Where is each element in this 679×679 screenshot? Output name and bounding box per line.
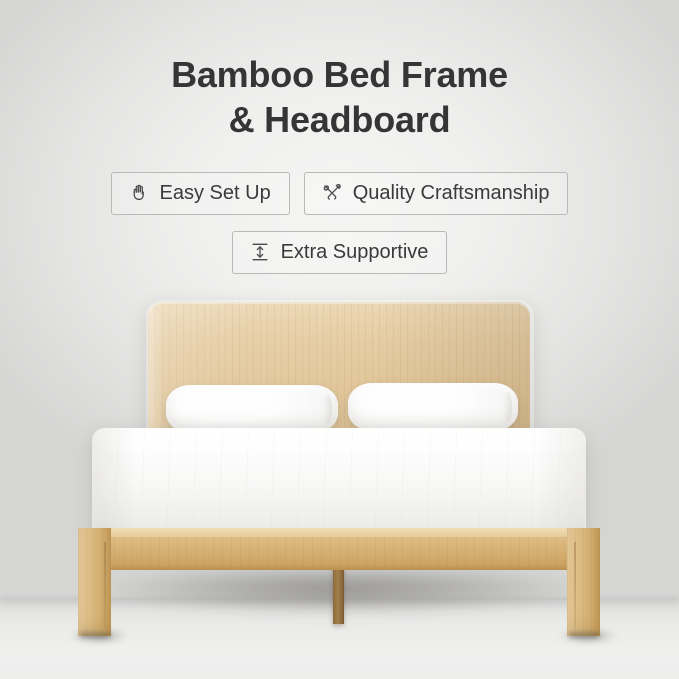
leg-right bbox=[567, 528, 600, 636]
pillow-left bbox=[166, 385, 338, 433]
leg-contact-shadow-left bbox=[80, 632, 110, 638]
leg-seam-right bbox=[574, 542, 576, 628]
frame-side-rail bbox=[78, 534, 600, 570]
leg-contact-shadow-right bbox=[569, 632, 599, 638]
pillow-right bbox=[348, 383, 518, 431]
center-support-leg bbox=[333, 562, 344, 624]
bamboo-bed-frame bbox=[0, 0, 679, 679]
white-mattress bbox=[92, 428, 586, 536]
leg-left bbox=[78, 528, 111, 636]
product-image: Bamboo Bed Frame & Headboard Easy Set Up bbox=[0, 0, 679, 679]
leg-seam-left bbox=[104, 542, 106, 628]
frame-rail-top-edge bbox=[78, 528, 600, 537]
